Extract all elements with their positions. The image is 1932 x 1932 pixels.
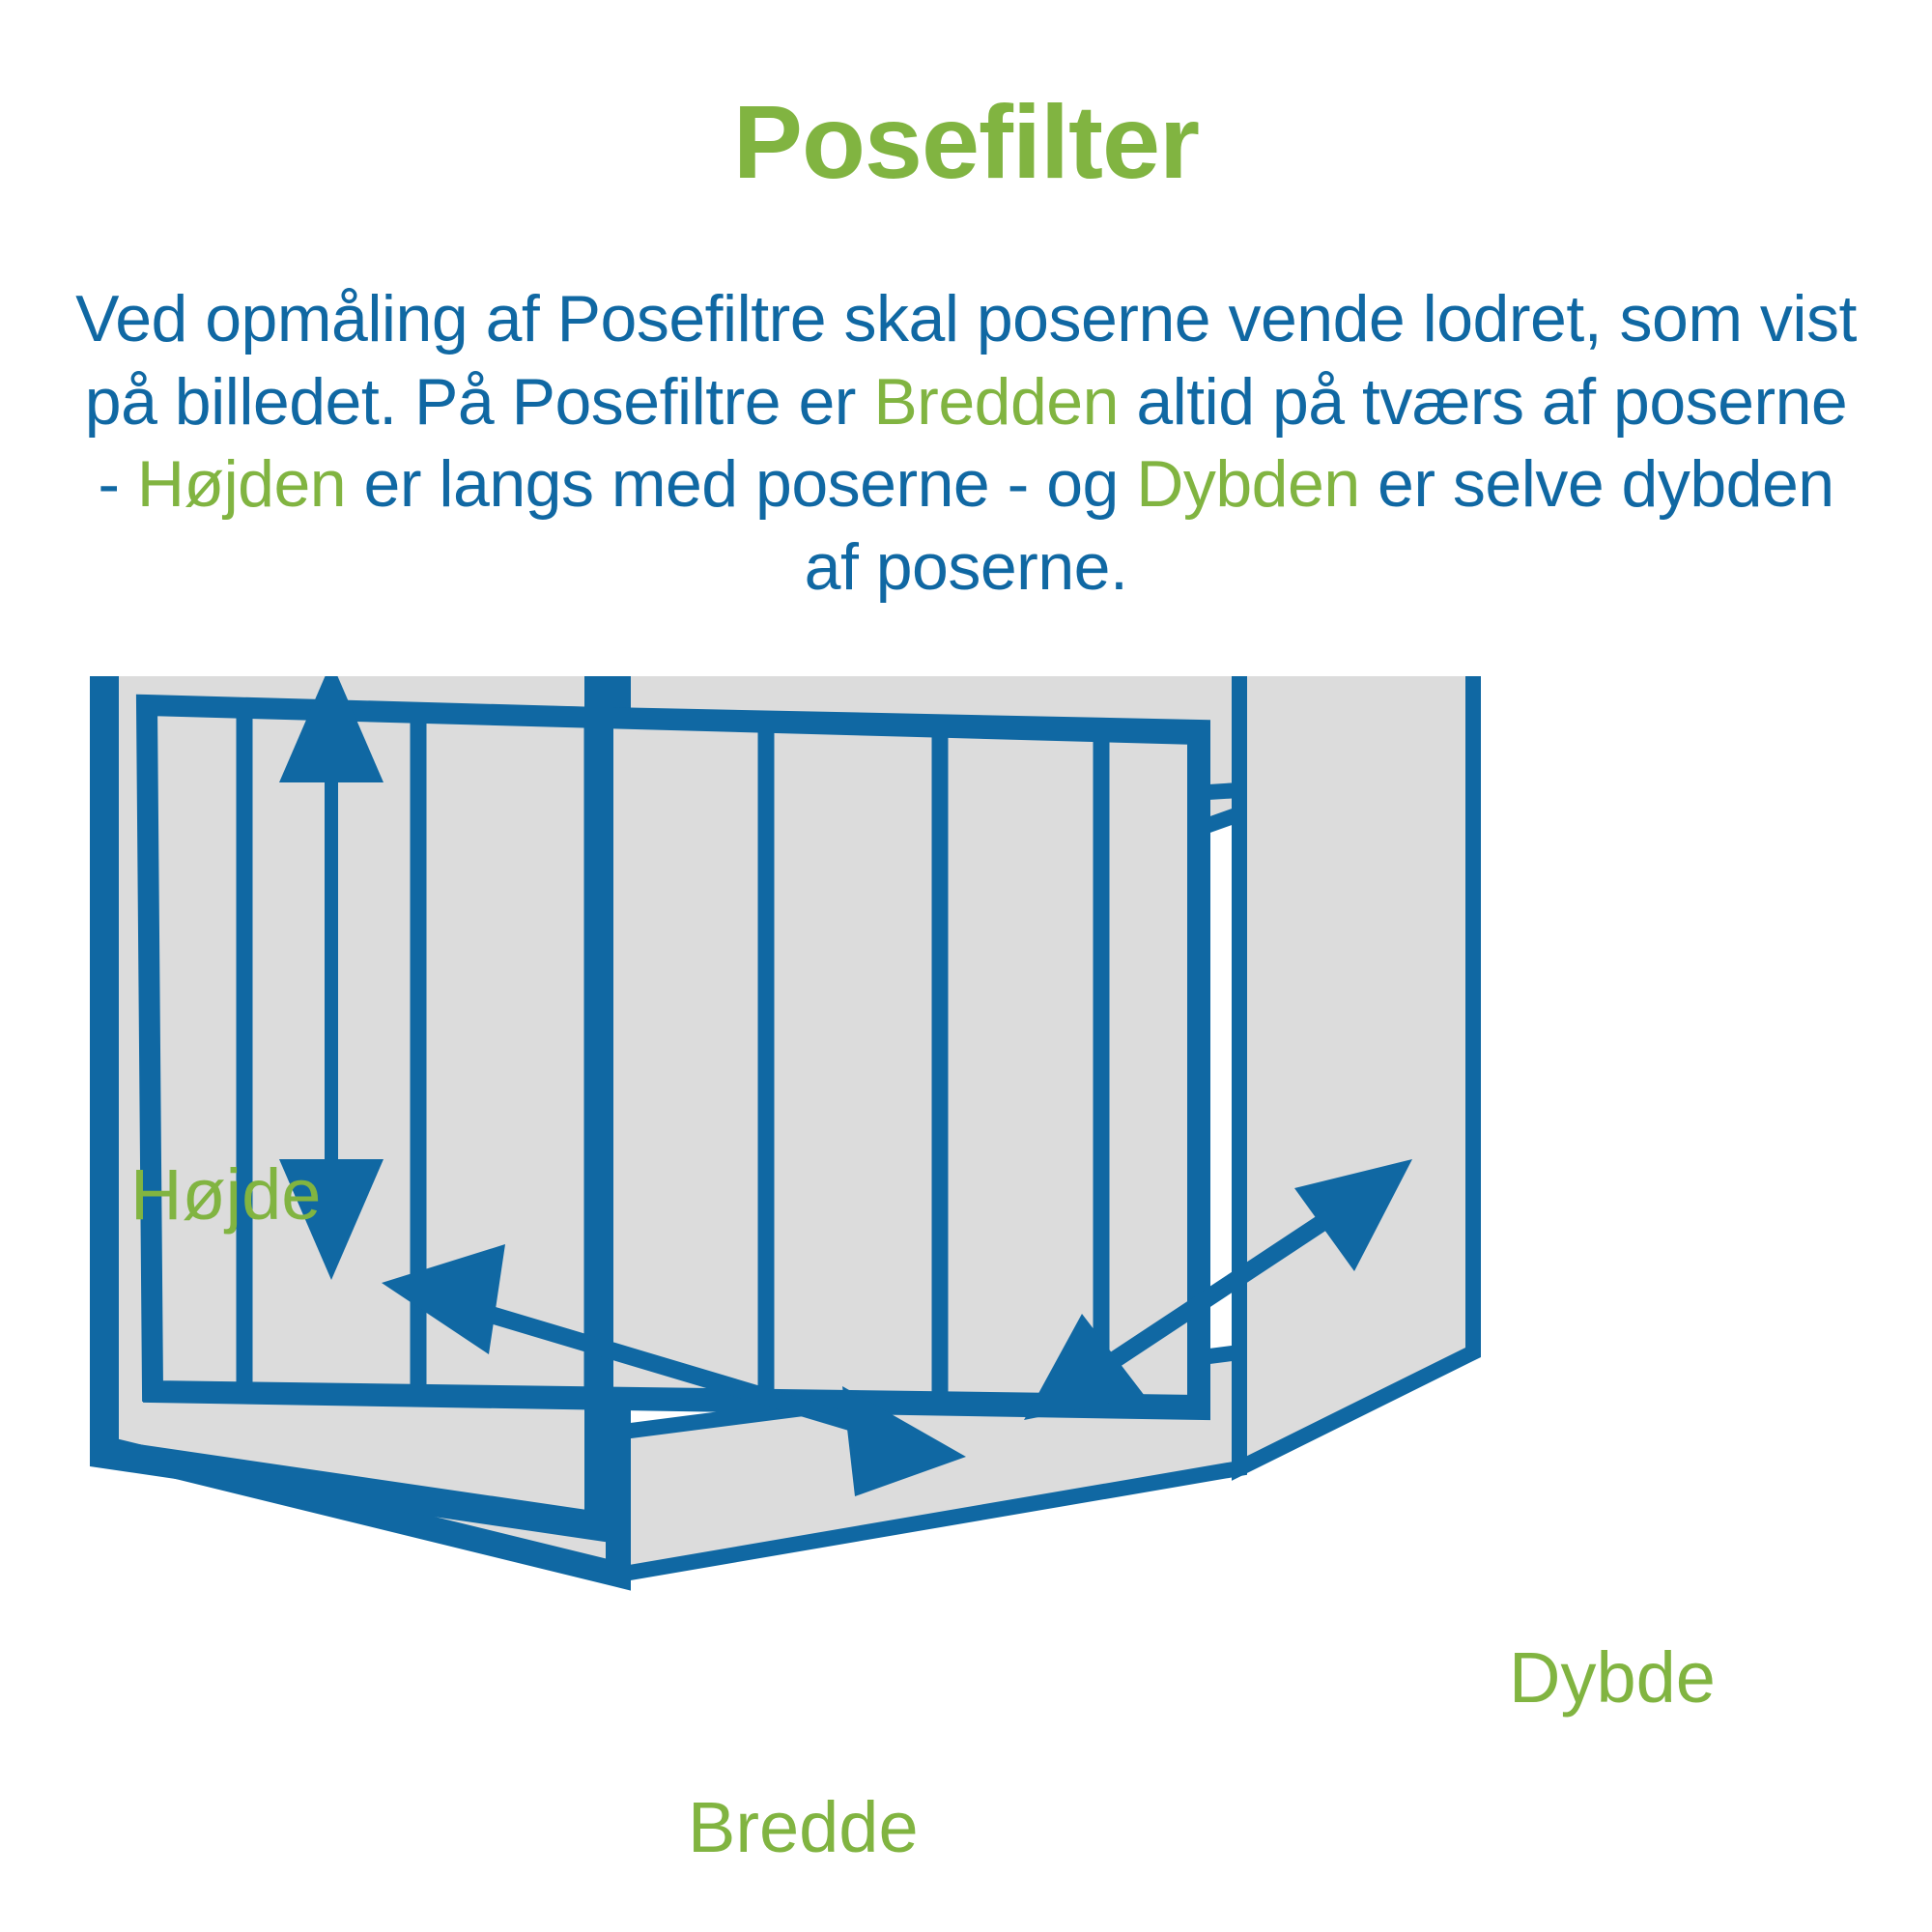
intro-keyword-hojden: Højden — [137, 447, 346, 521]
intro-keyword-dybden: Dybden — [1136, 447, 1359, 521]
intro-paragraph: Ved opmåling af Posefiltre skal poserne … — [68, 278, 1864, 610]
front-face-outline — [147, 705, 1198, 1406]
intro-line-3-post: er langs med poserne — [346, 447, 989, 521]
bag-filter-diagram — [0, 676, 1932, 1932]
dimension-label-width: Bredde — [688, 1792, 919, 1863]
filter-front-face — [147, 705, 1198, 1406]
intro-keyword-bredden: Bredden — [873, 365, 1119, 439]
intro-line-2-post: altid på — [1119, 365, 1345, 439]
intro-line-1: Ved opmåling af Posefiltre skal poserne … — [75, 282, 1602, 355]
poster-root: Posefilter Ved opmåling af Posefiltre sk… — [0, 0, 1932, 1932]
dimension-label-depth: Dybde — [1509, 1642, 1716, 1714]
bag-filter-illustration — [0, 676, 1932, 1932]
intro-line-4-pre: - og — [1008, 447, 1137, 521]
page-title: Posefilter — [0, 85, 1932, 200]
dimension-label-height: Højde — [130, 1159, 321, 1231]
filter-right-side-panel — [1239, 676, 1473, 1468]
